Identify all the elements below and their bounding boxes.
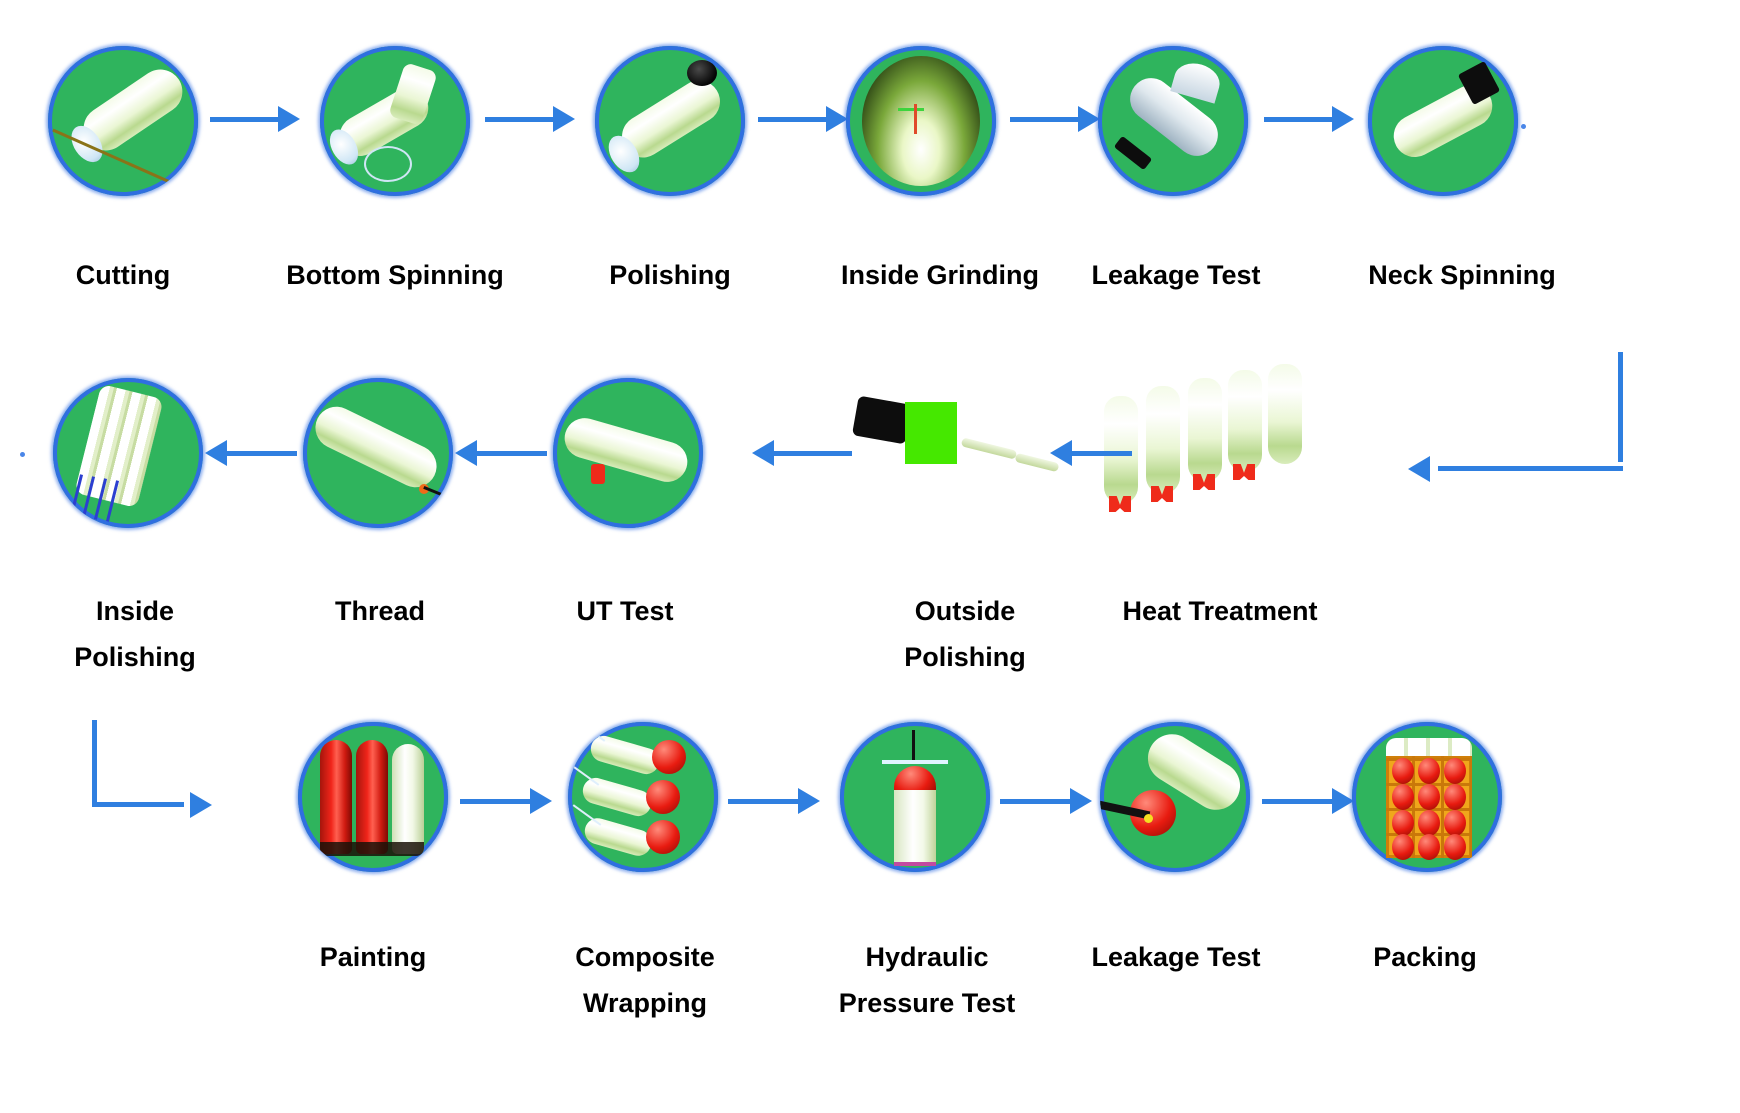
arrow-ut-test-to-thread [455,440,547,466]
process-label-painting: Painting [248,888,498,980]
process-node-polishing[interactable] [595,46,745,196]
arrow-painting-to-composite-wrapping [460,788,552,814]
arrow-polishing-to-inside-grinding [758,106,848,132]
connector-row2-to-row3 [92,720,212,818]
tube-bottom-spinning-icon [320,46,470,196]
process-label-heat-treatment: Heat Treatment [1090,542,1350,634]
process-node-heat-treatment[interactable] [1100,378,1320,508]
ut-test-icon [553,378,703,528]
process-node-inside-polishing[interactable] [53,378,203,528]
process-node-packing[interactable] [1352,722,1502,872]
arrow-inside-grinding-to-leakage-test [1010,106,1100,132]
process-node-cutting[interactable] [48,46,198,196]
neck-spinning-icon [1368,46,1518,196]
process-node-composite-wrapping[interactable] [568,722,718,872]
connector-row1-to-row2 [1408,352,1623,482]
process-node-neck-spinning[interactable] [1368,46,1518,196]
arrow-leakage-test-to-neck-spinning [1264,106,1354,132]
process-label-composite-wrapping: Composite Wrapping [510,888,780,1072]
arrow-outside-polishing-to-ut-test [752,440,852,466]
composite-wrapping-icon [568,722,718,872]
arrow-cutting-to-bottom-spinning [210,106,300,132]
tube-cutting-icon [48,46,198,196]
process-label-hydraulic-pressure-test: Hydraulic Pressure Test [782,888,1072,1072]
heat-treatment-icon [1100,378,1320,508]
painting-icon [298,722,448,872]
arrow-leakage-test-to-packing [1262,788,1354,814]
packing-icon [1352,722,1502,872]
process-label-polishing: Polishing [535,206,805,298]
arrow-thread-to-inside-polishing [205,440,297,466]
process-label-leakage-test-2: Leakage Test [1046,888,1306,980]
process-label-leakage-test-1: Leakage Test [1046,206,1306,298]
process-node-inside-grinding[interactable] [846,46,996,196]
process-label-ut-test: UT Test [500,542,750,634]
inside-polishing-icon [53,378,203,528]
process-label-bottom-spinning: Bottom Spinning [240,206,550,298]
leakage-test-final-icon [1100,722,1250,872]
decorative-dot-left [20,452,25,457]
process-label-inside-polishing: Inside Polishing [10,542,260,726]
process-node-bottom-spinning[interactable] [320,46,470,196]
process-node-painting[interactable] [298,722,448,872]
process-label-neck-spinning: Neck Spinning [1312,206,1612,298]
process-node-ut-test[interactable] [553,378,703,528]
process-node-leakage-test-2[interactable] [1100,722,1250,872]
arrow-composite-wrapping-to-hydraulic-test [728,788,820,814]
thread-icon [303,378,453,528]
process-label-packing: Packing [1300,888,1550,980]
hydraulic-pressure-test-icon [840,722,990,872]
process-node-thread[interactable] [303,378,453,528]
process-node-outside-polishing[interactable] [855,396,1065,486]
arrow-bottom-spinning-to-polishing [485,106,575,132]
arrow-hydraulic-test-to-leakage-test [1000,788,1092,814]
process-node-hydraulic-pressure-test[interactable] [840,722,990,872]
leakage-test-icon [1098,46,1248,196]
inside-grinding-icon [846,46,996,196]
outside-polishing-icon [855,396,1065,486]
process-label-inside-grinding: Inside Grinding [790,206,1090,298]
process-label-outside-polishing: Outside Polishing [845,542,1085,726]
decorative-dot-right [1521,124,1526,129]
process-label-thread: Thread [255,542,505,634]
tube-polishing-icon [595,46,745,196]
process-label-cutting: Cutting [13,206,233,298]
process-node-leakage-test-1[interactable] [1098,46,1248,196]
